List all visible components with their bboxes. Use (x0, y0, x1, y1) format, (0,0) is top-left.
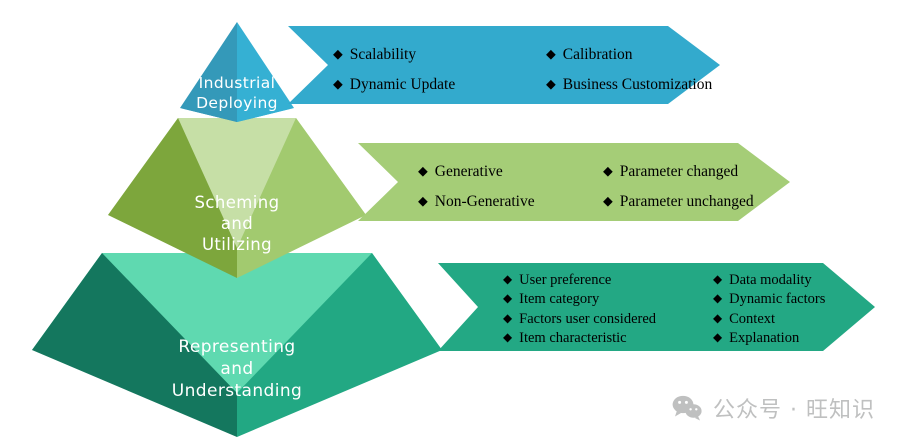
diamond-bullet-icon: ◆ (503, 293, 512, 305)
watermark-text: 公众号 · 旺知识 (713, 392, 875, 424)
bullet-text: Dynamic Update (350, 76, 455, 94)
diamond-bullet-icon: ◆ (418, 195, 428, 208)
tier-top-left-face (180, 22, 237, 122)
bullet-text: Data modality (729, 272, 812, 289)
bullet-text: Dynamic factors (729, 291, 825, 308)
bullet-item: ◆ Context (713, 311, 875, 328)
bullet-item: ◆ Scalability (333, 46, 546, 64)
bullet-item: ◆ Factors user considered (503, 311, 713, 328)
bullet-text: Item category (519, 291, 599, 308)
bullet-text: Scalability (350, 46, 416, 64)
diamond-bullet-icon: ◆ (418, 165, 428, 178)
bullet-text: Parameter changed (620, 163, 738, 181)
diamond-bullet-icon: ◆ (713, 293, 722, 305)
bullet-item: ◆ Item category (503, 291, 713, 308)
bullet-item: ◆ Dynamic Update (333, 76, 546, 94)
tier-top-right-face (237, 22, 294, 122)
banner-scheming-utilizing: ◆ Generative ◆ Parameter changed ◆ Non-G… (358, 143, 790, 221)
diamond-bullet-icon: ◆ (546, 48, 556, 61)
bullet-item: ◆ Non-Generative (418, 193, 603, 211)
bullet-text: Generative (435, 163, 503, 181)
bullet-text: User preference (519, 272, 611, 289)
diamond-bullet-icon: ◆ (603, 165, 613, 178)
bullet-item: ◆ Data modality (713, 272, 875, 289)
diamond-bullet-icon: ◆ (503, 313, 512, 325)
banner-representing-understanding: ◆ User preference ◆ Data modality ◆ Item… (438, 263, 875, 351)
diamond-bullet-icon: ◆ (713, 332, 722, 344)
bullet-text: Factors user considered (519, 311, 656, 328)
bullet-item: ◆ Dynamic factors (713, 291, 875, 308)
diamond-bullet-icon: ◆ (603, 195, 613, 208)
diamond-bullet-icon: ◆ (713, 313, 722, 325)
diamond-bullet-icon: ◆ (546, 78, 556, 91)
bullet-item: ◆ Generative (418, 163, 603, 181)
bullet-text: Context (729, 311, 775, 328)
bullet-item: ◆ Item characteristic (503, 330, 713, 347)
bullet-text: Item characteristic (519, 330, 626, 347)
diamond-bullet-icon: ◆ (333, 78, 343, 91)
diamond-bullet-icon: ◆ (333, 48, 343, 61)
banner-industrial-deploying: ◆ Scalability ◆ Calibration ◆ Dynamic Up… (288, 26, 720, 104)
diamond-bullet-icon: ◆ (713, 274, 722, 286)
bullet-item: ◆ Parameter unchanged (603, 193, 790, 211)
bullet-text: Non-Generative (435, 193, 535, 211)
bullet-item: ◆ Explanation (713, 330, 875, 347)
bullet-text: Explanation (729, 330, 799, 347)
diagram-canvas: Industrial Deploying Scheming and Utiliz… (0, 0, 906, 441)
wechat-icon (672, 395, 702, 421)
bullet-item: ◆ Calibration (546, 46, 720, 64)
banner-items-blue: ◆ Scalability ◆ Calibration ◆ Dynamic Up… (288, 31, 720, 100)
bullet-item: ◆ User preference (503, 272, 713, 289)
bullet-item: ◆ Business Customization (546, 76, 720, 94)
banner-items-teal: ◆ User preference ◆ Data modality ◆ Item… (438, 266, 875, 349)
bullet-text: Calibration (563, 46, 633, 64)
bullet-text: Business Customization (563, 76, 712, 94)
bullet-text: Parameter unchanged (620, 193, 754, 211)
diamond-bullet-icon: ◆ (503, 332, 512, 344)
diamond-bullet-icon: ◆ (503, 274, 512, 286)
watermark: 公众号 · 旺知识 (672, 392, 875, 424)
bullet-item: ◆ Parameter changed (603, 163, 790, 181)
banner-items-green: ◆ Generative ◆ Parameter changed ◆ Non-G… (358, 148, 790, 217)
